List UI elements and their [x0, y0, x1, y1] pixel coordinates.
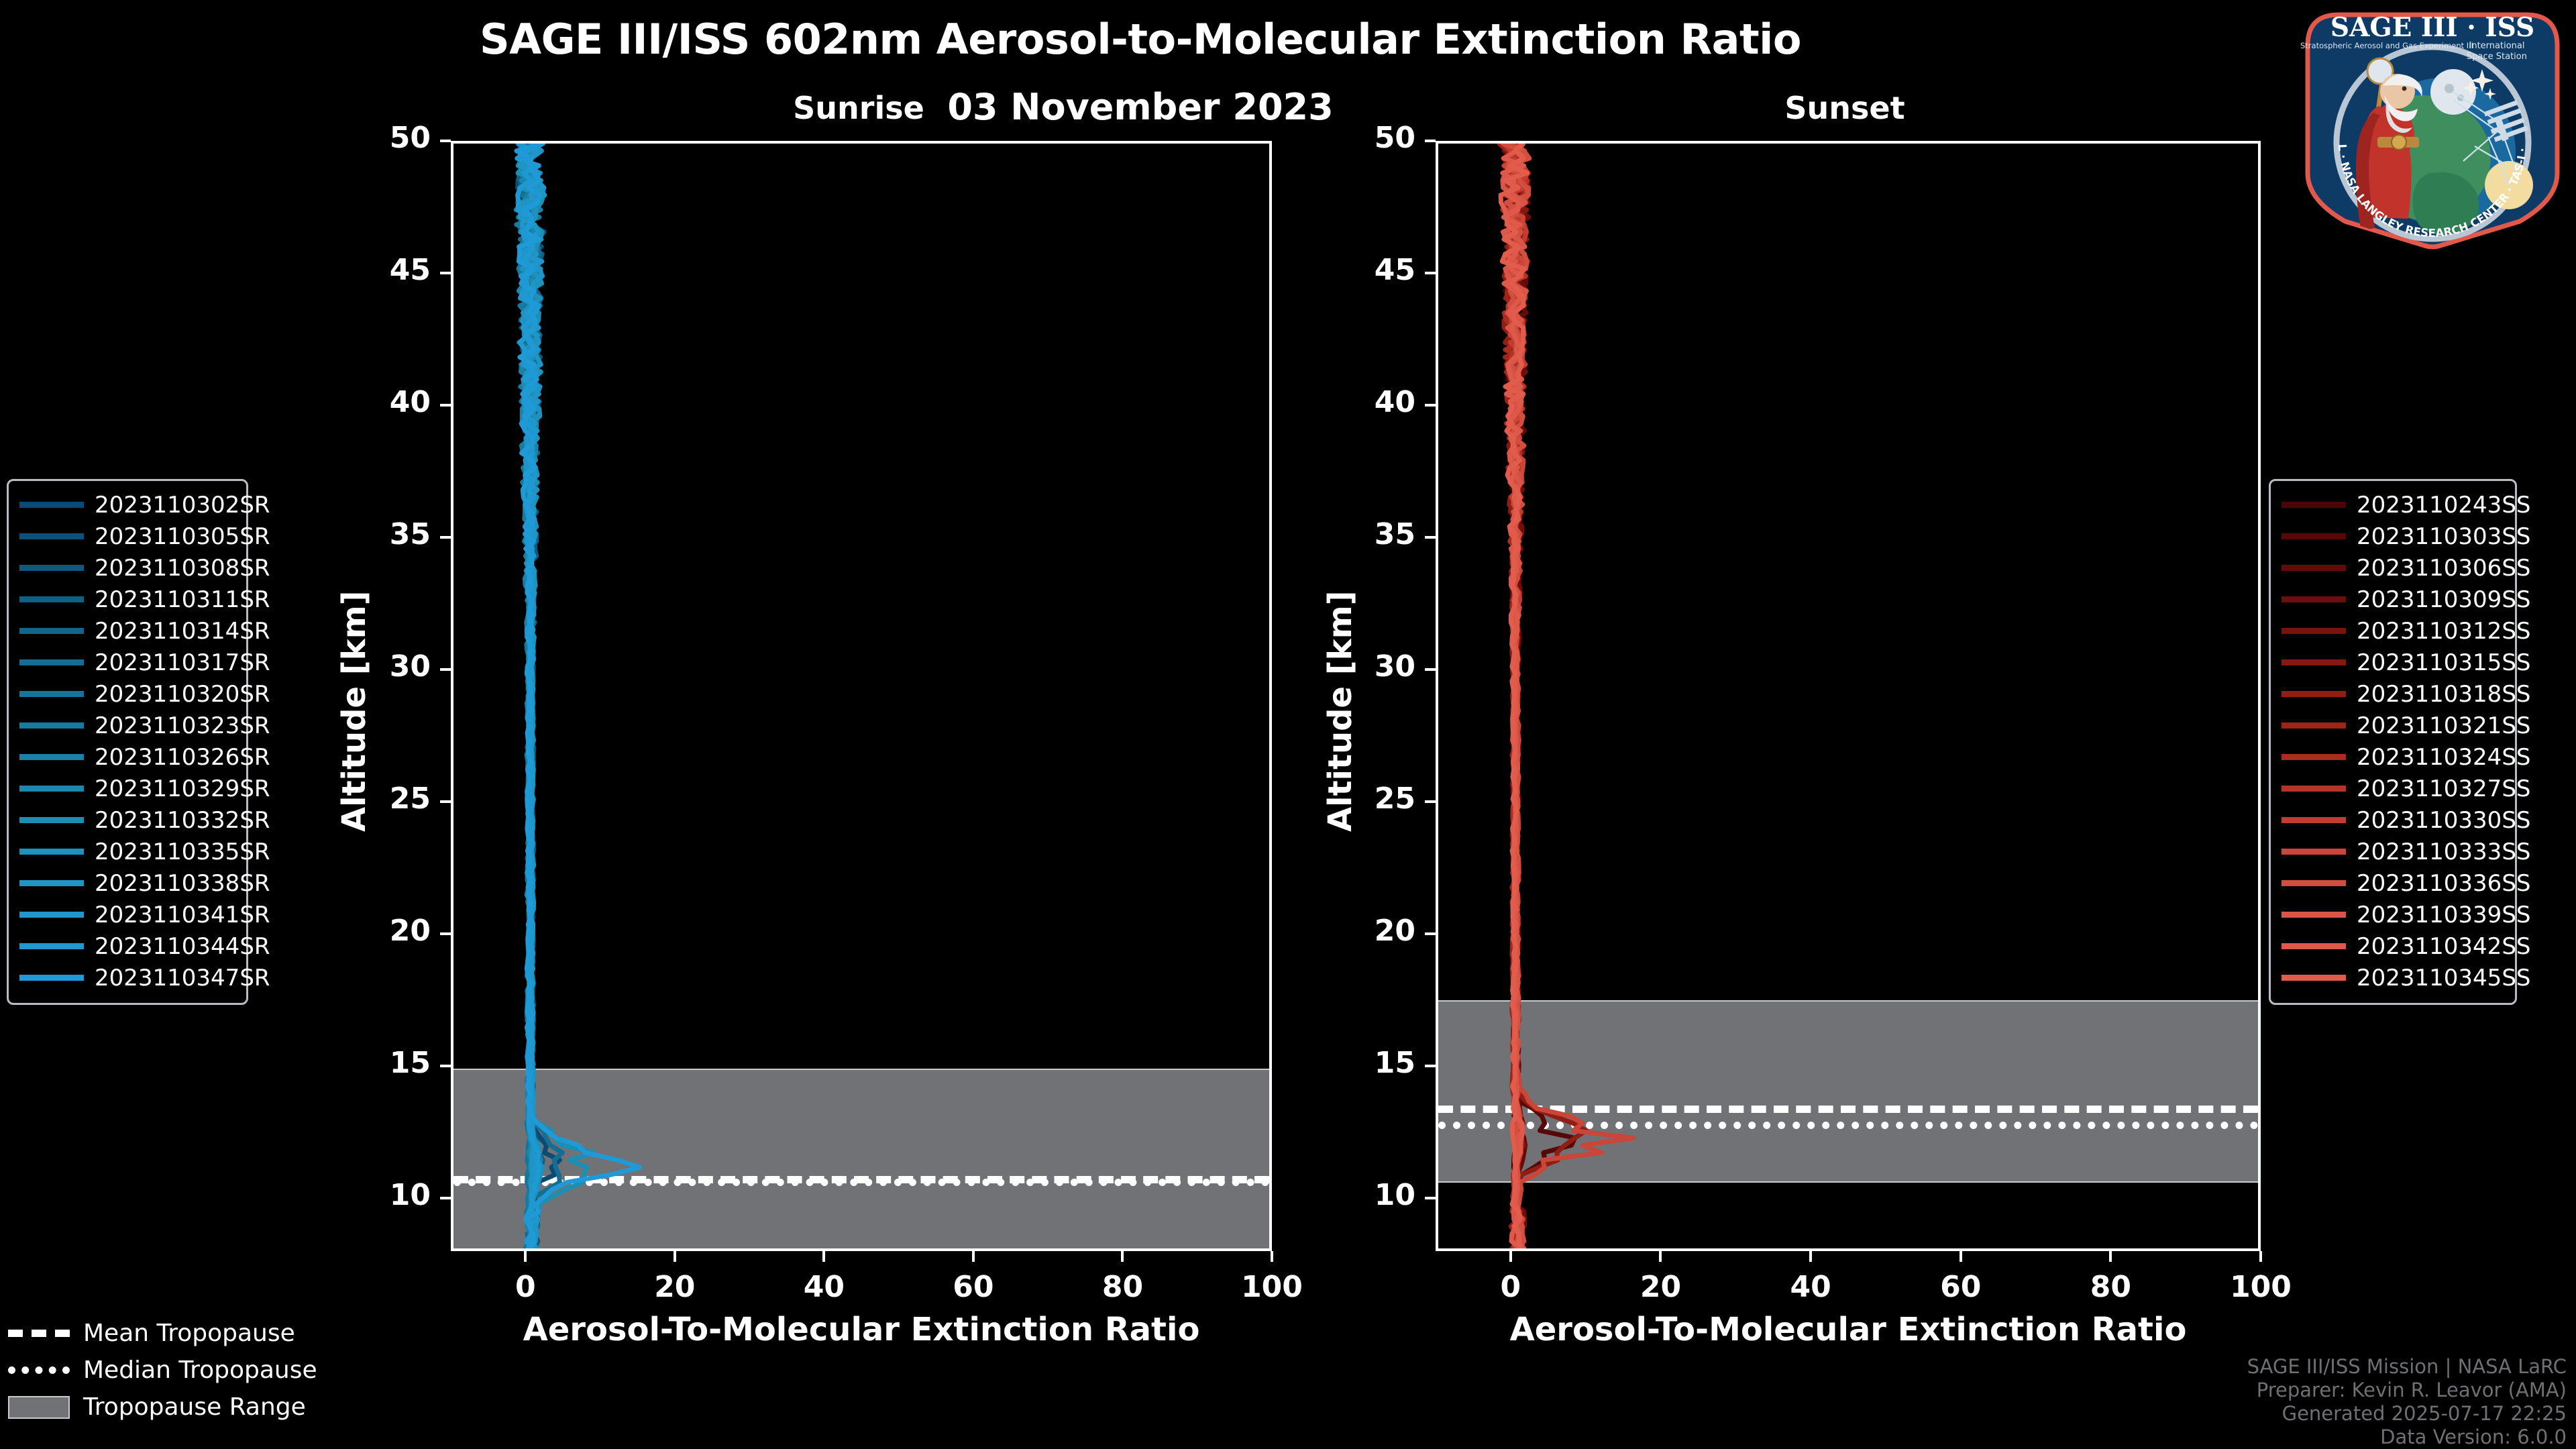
panel-subtitle-sunrise: Sunrise: [671, 90, 1046, 126]
legend-color-swatch: [19, 912, 84, 918]
legend-item[interactable]: 2023110330SS: [2282, 804, 2504, 836]
legend-item-label: 2023110309SS: [2357, 586, 2530, 613]
y-tick-mark: [440, 272, 451, 274]
legend-color-swatch: [2282, 659, 2346, 665]
legend-item-label: 2023110314SR: [95, 618, 270, 645]
x-axis-title-sunrise: Aerosol-To-Molecular Extinction Ratio: [451, 1311, 1272, 1348]
legend-color-swatch: [19, 817, 84, 823]
x-tick-mark: [2109, 1251, 2112, 1262]
legend-color-swatch: [2282, 691, 2346, 697]
y-tick-label: 20: [1335, 914, 1415, 948]
legend-item[interactable]: 2023110342SS: [2282, 930, 2504, 962]
legend-item-label: 2023110306SS: [2357, 555, 2530, 582]
y-tick-mark: [440, 1197, 451, 1199]
profile-traces-sunrise: [453, 144, 1269, 1248]
legend-color-swatch: [2282, 533, 2346, 539]
legend-item-label: 2023110323SR: [95, 712, 270, 739]
x-tick-label: 80: [2057, 1270, 2164, 1304]
legend-item-label: 2023110315SS: [2357, 649, 2530, 676]
y-tick-label: 10: [350, 1178, 431, 1212]
legend-item[interactable]: 2023110311SR: [19, 584, 235, 615]
legend-color-swatch: [19, 691, 84, 697]
sage-iii-iss-mission-patch-icon: SAGE III · ISS Stratospheric Aerosol and…: [2298, 5, 2567, 254]
legend-color-swatch: [19, 754, 84, 760]
legend-sunset[interactable]: 2023110243SS2023110303SS2023110306SS2023…: [2269, 479, 2517, 1005]
y-tick-label: 35: [1335, 517, 1415, 551]
tropopause-key-glyph: [8, 1396, 70, 1419]
legend-item[interactable]: 2023110320SR: [19, 678, 235, 710]
legend-item-label: 2023110335SR: [95, 839, 270, 865]
legend-item-label: 2023110326SR: [95, 744, 270, 771]
legend-item[interactable]: 2023110323SR: [19, 710, 235, 741]
credits-block: SAGE III/ISS Mission | NASA LaRC Prepare…: [1963, 1355, 2567, 1449]
legend-item-label: 2023110339SS: [2357, 902, 2530, 928]
y-tick-label: 15: [350, 1046, 431, 1080]
legend-item-label: 2023110303SS: [2357, 523, 2530, 550]
legend-color-swatch: [2282, 754, 2346, 760]
x-tick-label: 40: [1757, 1270, 1864, 1304]
y-tick-mark: [1425, 536, 1436, 539]
x-tick-mark: [524, 1251, 527, 1262]
x-tick-mark: [822, 1251, 825, 1262]
y-tick-label: 45: [350, 253, 431, 287]
tropopause-key-glyph: [8, 1366, 70, 1374]
x-tick-mark: [1509, 1251, 1512, 1262]
legend-color-swatch: [2282, 880, 2346, 886]
y-tick-mark: [1425, 272, 1436, 274]
tropopause-key-label: Median Tropopause: [83, 1356, 317, 1384]
y-tick-label: 50: [350, 121, 431, 155]
legend-item[interactable]: 2023110305SR: [19, 521, 235, 552]
legend-color-swatch: [19, 628, 84, 634]
x-tick-mark: [1659, 1251, 1662, 1262]
patch-title: SAGE III · ISS: [2330, 12, 2534, 43]
y-tick-mark: [1425, 932, 1436, 935]
y-tick-mark: [440, 140, 451, 142]
y-axis-title-sunset: Altitude [km]: [1322, 590, 1359, 832]
plot-area-sunrise: [453, 144, 1269, 1248]
legend-color-swatch: [19, 502, 84, 508]
legend-item-label: 2023110345SS: [2357, 965, 2530, 991]
x-tick-mark: [1809, 1251, 1812, 1262]
legend-item[interactable]: 2023110329SR: [19, 773, 235, 804]
x-tick-label: 40: [770, 1270, 877, 1304]
legend-item[interactable]: 2023110314SR: [19, 615, 235, 647]
legend-item[interactable]: 2023110327SS: [2282, 773, 2504, 804]
legend-color-swatch: [2282, 943, 2346, 949]
legend-item-label: 2023110317SR: [95, 649, 270, 676]
x-tick-label: 0: [472, 1270, 579, 1304]
legend-sunrise[interactable]: 2023110302SR2023110305SR2023110308SR2023…: [7, 479, 248, 1005]
legend-item[interactable]: 2023110338SR: [19, 867, 235, 899]
legend-color-swatch: [19, 786, 84, 792]
legend-color-swatch: [19, 596, 84, 602]
x-tick-mark: [972, 1251, 975, 1262]
legend-item[interactable]: 2023110306SS: [2282, 552, 2504, 584]
y-tick-label: 15: [1335, 1046, 1415, 1080]
legend-item[interactable]: 2023110344SR: [19, 930, 235, 962]
patch-subtitle-left: Stratospheric Aerosol and Gas Experiment…: [2300, 41, 2473, 50]
tropopause-key: Mean TropopauseMedian TropopauseTropopau…: [7, 1315, 356, 1426]
x-tick-label: 20: [621, 1270, 729, 1304]
profile-traces-sunset: [1438, 144, 2258, 1248]
legend-item-label: 2023110318SS: [2357, 681, 2530, 708]
legend-color-swatch: [2282, 502, 2346, 508]
plot-area-sunset: [1438, 144, 2258, 1248]
legend-color-swatch: [2282, 565, 2346, 571]
y-tick-label: 10: [1335, 1178, 1415, 1212]
legend-color-swatch: [19, 533, 84, 539]
legend-item[interactable]: 2023110333SS: [2282, 836, 2504, 867]
credits-line-mission: SAGE III/ISS Mission | NASA LaRC: [1963, 1355, 2567, 1379]
legend-color-swatch: [19, 565, 84, 571]
legend-item-label: 2023110305SR: [95, 523, 270, 550]
y-tick-label: 40: [1335, 385, 1415, 419]
tropopause-key-marker: [7, 1396, 71, 1419]
plot-panel-sunset: [1436, 141, 2261, 1251]
y-tick-mark: [1425, 1197, 1436, 1199]
y-tick-mark: [1425, 668, 1436, 671]
y-tick-mark: [440, 668, 451, 671]
x-tick-label: 60: [920, 1270, 1027, 1304]
legend-item[interactable]: 2023110317SR: [19, 647, 235, 678]
legend-color-swatch: [19, 943, 84, 949]
legend-item[interactable]: 2023110302SR: [19, 489, 235, 521]
legend-item-label: 2023110336SS: [2357, 870, 2530, 897]
legend-item[interactable]: 2023110347SR: [19, 962, 235, 994]
legend-color-swatch: [2282, 849, 2346, 855]
patch-subtitle-right-1: International: [2469, 41, 2525, 51]
y-tick-mark: [1425, 1065, 1436, 1067]
legend-item[interactable]: 2023110345SS: [2282, 962, 2504, 994]
legend-color-swatch: [19, 880, 84, 886]
y-tick-label: 20: [350, 914, 431, 948]
y-tick-mark: [440, 404, 451, 407]
legend-item[interactable]: 2023110332SR: [19, 804, 235, 836]
legend-item-label: 2023110341SR: [95, 902, 270, 928]
legend-item[interactable]: 2023110308SR: [19, 552, 235, 584]
legend-color-swatch: [19, 722, 84, 729]
legend-item[interactable]: 2023110336SS: [2282, 867, 2504, 899]
legend-item[interactable]: 2023110309SS: [2282, 584, 2504, 615]
legend-item-label: 2023110320SR: [95, 681, 270, 708]
legend-item-label: 2023110333SS: [2357, 839, 2530, 865]
y-tick-label: 50: [1335, 121, 1415, 155]
y-tick-mark: [1425, 404, 1436, 407]
legend-color-swatch: [19, 659, 84, 665]
tropopause-key-item: Median Tropopause: [7, 1352, 356, 1389]
legend-item[interactable]: 2023110243SS: [2282, 489, 2504, 521]
credits-line-preparer: Preparer: Kevin R. Leavor (AMA): [1963, 1379, 2567, 1402]
legend-item[interactable]: 2023110341SR: [19, 899, 235, 930]
legend-item-label: 2023110330SS: [2357, 807, 2530, 834]
y-tick-label: 45: [1335, 253, 1415, 287]
legend-color-swatch: [2282, 628, 2346, 634]
x-tick-label: 0: [1457, 1270, 1564, 1304]
legend-item-label: 2023110332SR: [95, 807, 270, 834]
tropopause-key-marker: [7, 1330, 71, 1337]
legend-item-label: 2023110321SS: [2357, 712, 2530, 739]
legend-item-label: 2023110329SR: [95, 775, 270, 802]
legend-color-swatch: [19, 975, 84, 981]
x-tick-label: 20: [1607, 1270, 1714, 1304]
x-tick-mark: [2259, 1251, 2262, 1262]
credits-line-generated: Generated 2025-07-17 22:25: [1963, 1402, 2567, 1426]
x-tick-label: 60: [1907, 1270, 2015, 1304]
legend-item-label: 2023110342SS: [2357, 933, 2530, 960]
legend-color-swatch: [2282, 975, 2346, 981]
legend-item-label: 2023110338SR: [95, 870, 270, 897]
x-tick-label: 100: [1218, 1270, 1326, 1304]
legend-item[interactable]: 2023110303SS: [2282, 521, 2504, 552]
legend-item[interactable]: 2023110315SS: [2282, 647, 2504, 678]
tropopause-key-marker: [7, 1366, 71, 1374]
legend-item-label: 2023110347SR: [95, 965, 270, 991]
y-tick-label: 35: [350, 517, 431, 551]
y-tick-label: 40: [350, 385, 431, 419]
page-title: SAGE III/ISS 602nm Aerosol-to-Molecular …: [0, 15, 2281, 64]
x-axis-title-sunset: Aerosol-To-Molecular Extinction Ratio: [1436, 1311, 2261, 1348]
legend-color-swatch: [2282, 786, 2346, 792]
legend-color-swatch: [2282, 817, 2346, 823]
legend-item-label: 2023110311SR: [95, 586, 270, 613]
y-tick-mark: [440, 800, 451, 803]
legend-item-label: 2023110324SS: [2357, 744, 2530, 771]
legend-item-label: 2023110308SR: [95, 555, 270, 582]
x-tick-mark: [674, 1251, 676, 1262]
legend-item[interactable]: 2023110339SS: [2282, 899, 2504, 930]
legend-color-swatch: [2282, 912, 2346, 918]
x-tick-mark: [1960, 1251, 1962, 1262]
legend-item[interactable]: 2023110335SR: [19, 836, 235, 867]
legend-item-label: 2023110344SR: [95, 933, 270, 960]
y-tick-mark: [440, 1065, 451, 1067]
legend-item-label: 2023110243SS: [2357, 492, 2530, 519]
legend-item[interactable]: 2023110312SS: [2282, 615, 2504, 647]
panel-subtitle-sunset: Sunset: [1657, 90, 2033, 126]
legend-item[interactable]: 2023110324SS: [2282, 741, 2504, 773]
legend-color-swatch: [2282, 596, 2346, 602]
tropopause-key-label: Tropopause Range: [83, 1393, 306, 1421]
plot-panel-sunrise: [451, 141, 1272, 1251]
y-tick-mark: [440, 536, 451, 539]
y-axis-title-sunrise: Altitude [km]: [335, 590, 373, 832]
legend-item-label: 2023110302SR: [95, 492, 270, 519]
x-tick-mark: [1121, 1251, 1124, 1262]
legend-item[interactable]: 2023110326SR: [19, 741, 235, 773]
legend-item[interactable]: 2023110318SS: [2282, 678, 2504, 710]
legend-color-swatch: [2282, 722, 2346, 729]
tropopause-key-item: Mean Tropopause: [7, 1315, 356, 1352]
legend-color-swatch: [19, 849, 84, 855]
x-tick-label: 80: [1069, 1270, 1176, 1304]
y-tick-mark: [1425, 140, 1436, 142]
patch-subtitle-right-2: Space Station: [2467, 52, 2527, 62]
tropopause-key-label: Mean Tropopause: [83, 1320, 295, 1347]
y-tick-mark: [1425, 800, 1436, 803]
x-tick-label: 100: [2207, 1270, 2314, 1304]
tropopause-key-glyph: [8, 1330, 70, 1337]
legend-item-label: 2023110327SS: [2357, 775, 2530, 802]
credits-line-version: Data Version: 6.0.0: [1963, 1426, 2567, 1449]
legend-item-label: 2023110312SS: [2357, 618, 2530, 645]
tropopause-key-item: Tropopause Range: [7, 1389, 356, 1426]
x-tick-mark: [1271, 1251, 1273, 1262]
legend-item[interactable]: 2023110321SS: [2282, 710, 2504, 741]
y-tick-mark: [440, 932, 451, 935]
